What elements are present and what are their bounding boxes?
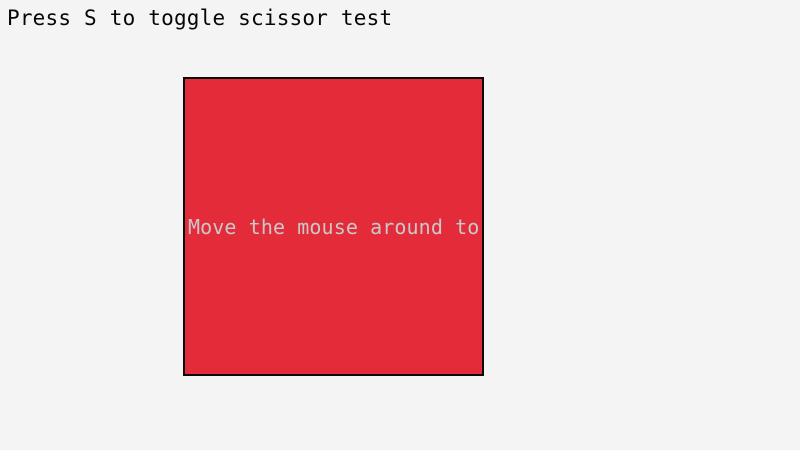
scissor-region[interactable]: Move the mouse around to r	[183, 77, 484, 376]
scissor-toggle-hint: Press S to toggle scissor test	[7, 5, 392, 31]
app-canvas: Press S to toggle scissor test Move the …	[0, 0, 800, 450]
scissor-clipped-text: Move the mouse around to r	[188, 215, 484, 239]
